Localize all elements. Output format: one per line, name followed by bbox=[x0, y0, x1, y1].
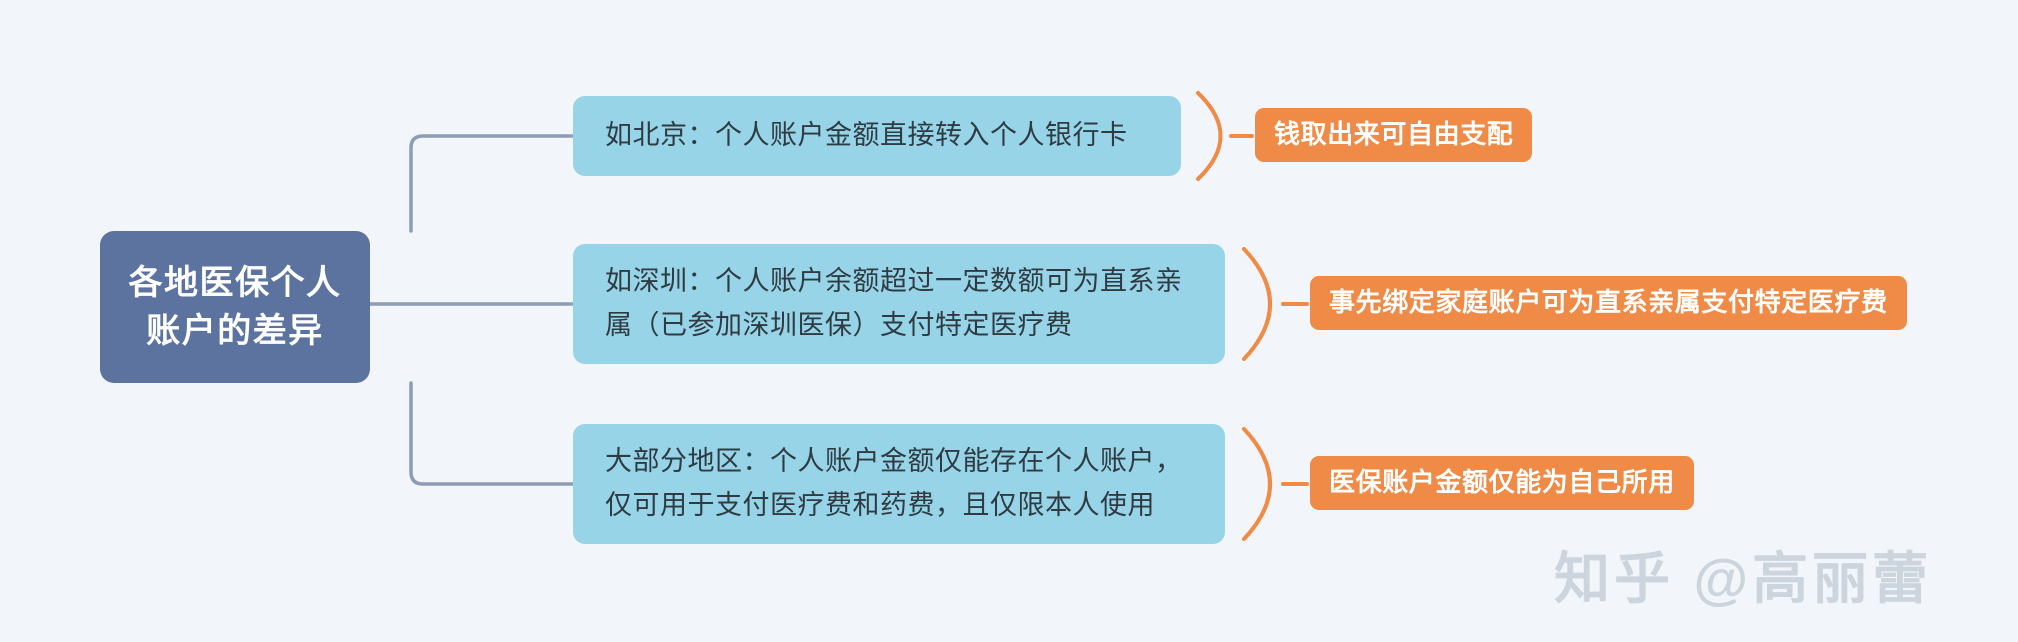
watermark: 知乎 @高丽蕾 bbox=[1554, 534, 1932, 615]
result-node-label: 钱取出来可自由支配 bbox=[1274, 119, 1513, 150]
curly-bracket-right-icon-3 bbox=[1244, 429, 1270, 539]
branch-node-beijing[interactable]: 如北京：个人账户金额直接转入个人银行卡 bbox=[573, 96, 1181, 176]
result-node-label: 事先绑定家庭账户可为直系亲属支付特定医疗费 bbox=[1329, 287, 1888, 318]
connector-root-to-branch-3 bbox=[411, 383, 573, 484]
branch-node-label: 如深圳：个人账户余额超过一定数额可为直系亲 属（已参加深圳医保）支付特定医疗费 bbox=[605, 260, 1183, 347]
result-node-most-regions[interactable]: 医保账户金额仅能为自己所用 bbox=[1310, 456, 1694, 510]
result-node-label: 医保账户金额仅能为自己所用 bbox=[1329, 467, 1675, 498]
result-node-beijing[interactable]: 钱取出来可自由支配 bbox=[1255, 108, 1532, 162]
root-node-label: 各地医保个人 账户的差异 bbox=[129, 259, 342, 356]
result-node-shenzhen[interactable]: 事先绑定家庭账户可为直系亲属支付特定医疗费 bbox=[1310, 276, 1907, 330]
mindmap-canvas: 各地医保个人 账户的差异 如北京：个人账户金额直接转入个人银行卡 钱取出来可自由… bbox=[0, 0, 2018, 642]
branch-node-most-regions[interactable]: 大部分地区：个人账户金额仅能存在个人账户， 仅可用于支付医疗费和药费，且仅限本人… bbox=[573, 424, 1225, 544]
root-node[interactable]: 各地医保个人 账户的差异 bbox=[100, 231, 370, 383]
connector-root-to-branch-1 bbox=[411, 136, 573, 231]
curly-bracket-right-icon-1 bbox=[1198, 93, 1221, 179]
branch-node-shenzhen[interactable]: 如深圳：个人账户余额超过一定数额可为直系亲 属（已参加深圳医保）支付特定医疗费 bbox=[573, 244, 1225, 364]
branch-node-label: 大部分地区：个人账户金额仅能存在个人账户， 仅可用于支付医疗费和药费，且仅限本人… bbox=[605, 440, 1183, 527]
curly-bracket-right-icon-2 bbox=[1244, 249, 1270, 359]
branch-node-label: 如北京：个人账户金额直接转入个人银行卡 bbox=[605, 114, 1128, 158]
